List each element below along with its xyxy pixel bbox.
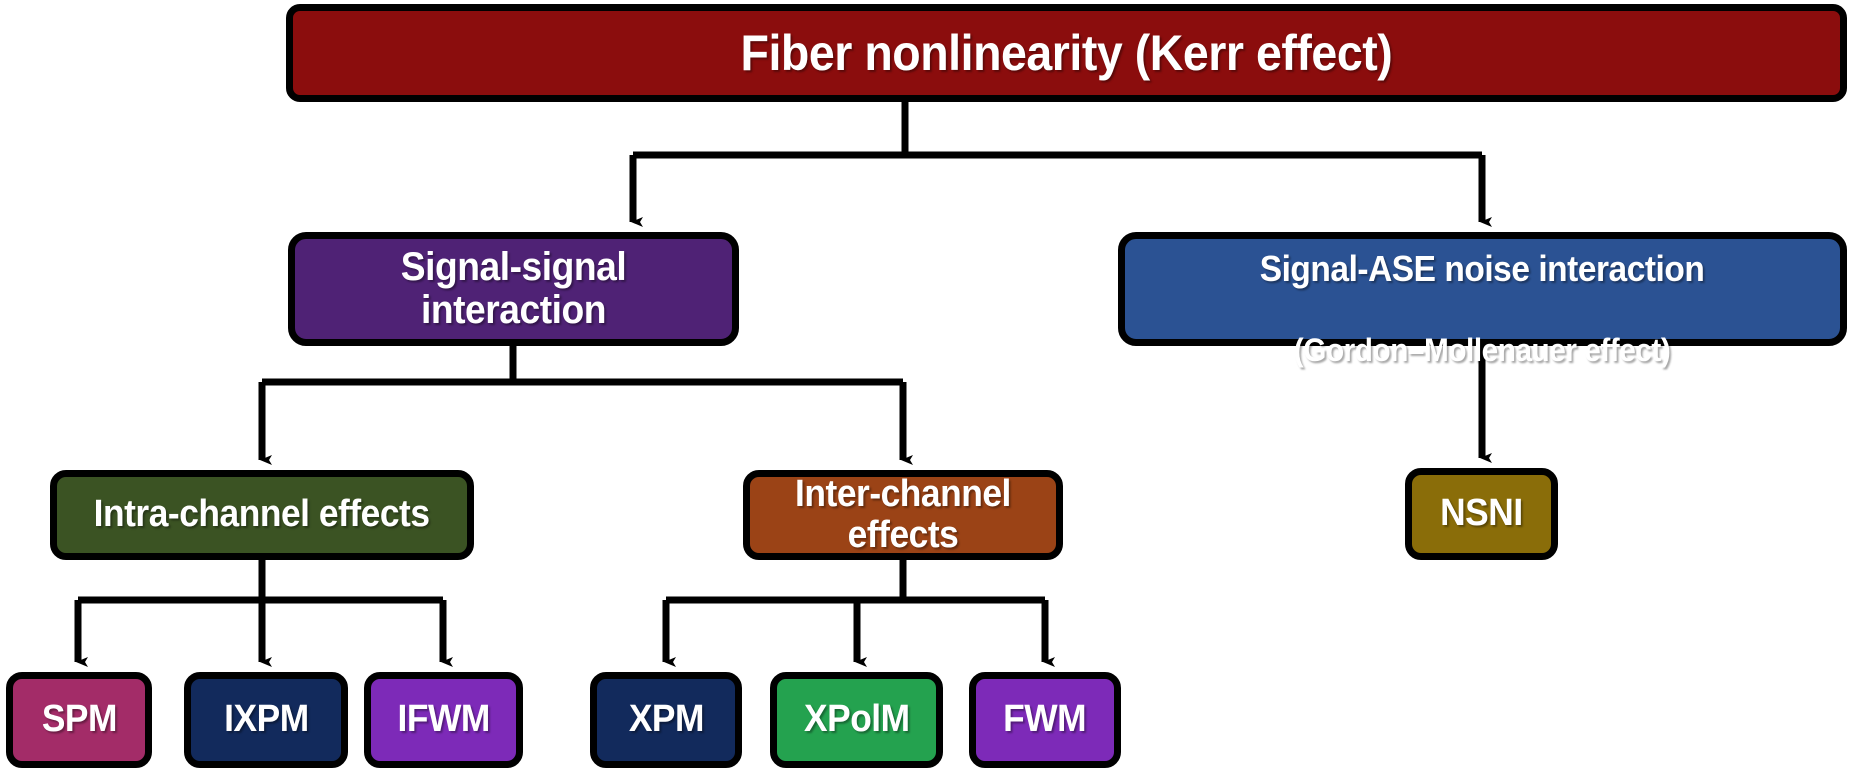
node-signal-signal-interaction-label: Signal-signal interaction (310, 246, 716, 332)
node-xpm[interactable]: XPM (590, 672, 742, 768)
node-signal-signal-interaction[interactable]: Signal-signal interaction (288, 232, 739, 346)
node-fiber-nonlinearity[interactable]: Fiber nonlinearity (Kerr effect) (286, 4, 1847, 102)
node-xpm-label: XPM (619, 699, 713, 740)
node-signal-ase-line1: Signal-ASE noise interaction (1260, 248, 1705, 289)
node-ixpm-label: IXPM (214, 699, 317, 740)
node-ifwm-label: IFWM (388, 699, 499, 740)
node-fwm-label: FWM (994, 699, 1096, 740)
node-fwm[interactable]: FWM (969, 672, 1121, 768)
node-xpolm[interactable]: XPolM (770, 672, 943, 768)
node-intra-channel-effects-label: Intra-channel effects (85, 494, 439, 535)
node-xpolm-label: XPolM (794, 699, 918, 740)
flowchart-canvas: Fiber nonlinearity (Kerr effect) Signal-… (0, 0, 1851, 777)
node-signal-ase-noise-interaction[interactable]: Signal-ASE noise interaction (Gordon–Mol… (1118, 232, 1847, 346)
node-ixpm[interactable]: IXPM (184, 672, 348, 768)
connector-layer (0, 0, 1851, 777)
node-intra-channel-effects[interactable]: Intra-channel effects (50, 470, 474, 560)
node-nsni[interactable]: NSNI (1405, 468, 1558, 560)
node-signal-ase-noise-interaction-label: Signal-ASE noise interaction (Gordon–Mol… (1251, 208, 1714, 369)
node-inter-channel-effects-label: Inter-channel effects (761, 474, 1046, 556)
node-signal-ase-line2: (Gordon–Mollenauer effect) (1294, 332, 1670, 368)
node-fiber-nonlinearity-label: Fiber nonlinearity (Kerr effect) (731, 26, 1401, 80)
node-ifwm[interactable]: IFWM (364, 672, 523, 768)
node-inter-channel-effects[interactable]: Inter-channel effects (743, 470, 1063, 560)
node-spm-label: SPM (32, 699, 126, 740)
node-nsni-label: NSNI (1431, 493, 1532, 534)
node-spm[interactable]: SPM (6, 672, 152, 768)
